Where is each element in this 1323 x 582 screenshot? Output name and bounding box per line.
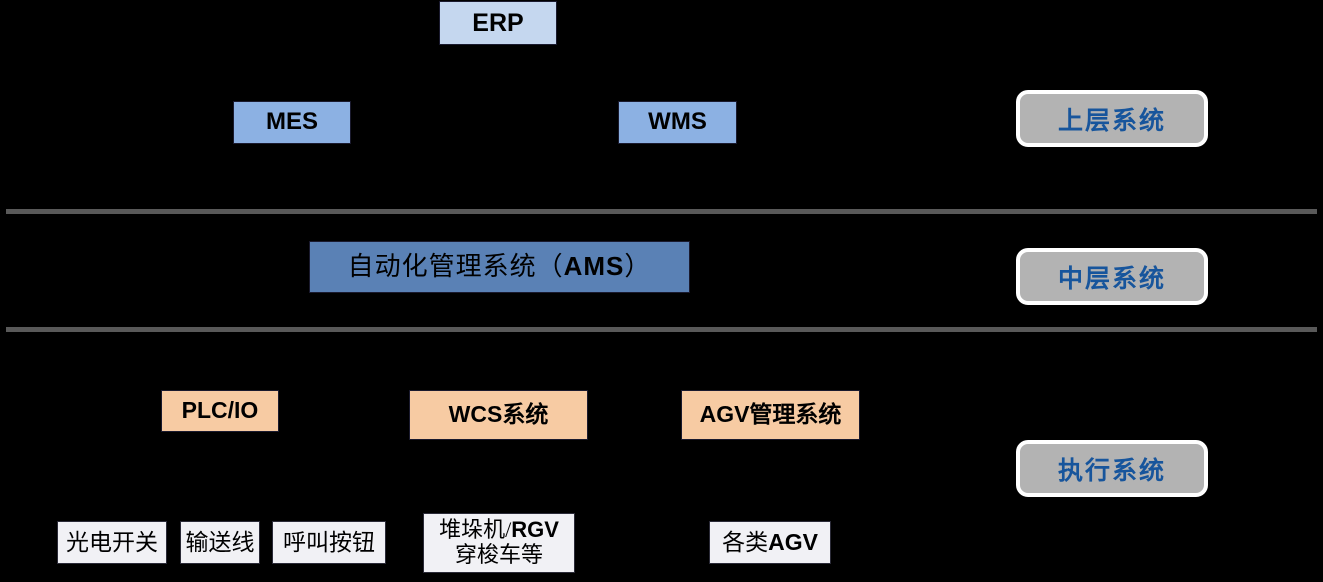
node-erp[interactable]: ERP (439, 1, 557, 45)
layer-tag-execution[interactable]: 执行系统 (1016, 440, 1208, 497)
layer-divider-middle (6, 327, 1317, 332)
node-stacker-line1-cjk: 堆垛机/ (439, 517, 511, 542)
node-various-agv-cjk: 各类 (722, 530, 768, 556)
node-wcs[interactable]: WCS系统 (409, 390, 588, 440)
node-ams-label-prefix: 自动化管理系统（ (348, 252, 564, 281)
node-plc-io[interactable]: PLC/IO (161, 390, 279, 432)
node-conveyor-line[interactable]: 输送线 (180, 521, 260, 564)
node-stacker-line1-latin: RGV (511, 517, 559, 542)
node-ams[interactable]: 自动化管理系统（AMS） (309, 241, 690, 293)
node-ams-label-suffix: ） (624, 252, 651, 281)
node-photoelectric-switch[interactable]: 光电开关 (57, 521, 167, 564)
node-various-agv-latin: AGV (768, 530, 818, 556)
node-wms[interactable]: WMS (618, 101, 737, 144)
layer-tag-upper[interactable]: 上层系统 (1016, 90, 1208, 147)
node-stacker-line2: 穿梭车等 (455, 542, 543, 567)
node-ams-label-latin: AMS (564, 252, 625, 281)
architecture-diagram-canvas: ERP MES WMS 上层系统 自动化管理系统（AMS） 中层系统 PLC/I… (0, 0, 1323, 582)
layer-divider-upper (6, 209, 1317, 214)
layer-tag-middle[interactable]: 中层系统 (1016, 248, 1208, 305)
node-various-agv[interactable]: 各类AGV (709, 521, 831, 564)
node-mes[interactable]: MES (233, 101, 351, 144)
node-stacker-rgv-shuttle[interactable]: 堆垛机/RGV穿梭车等 (423, 513, 575, 573)
node-call-button[interactable]: 呼叫按钮 (272, 521, 386, 564)
node-agv-management[interactable]: AGV管理系统 (681, 390, 860, 440)
